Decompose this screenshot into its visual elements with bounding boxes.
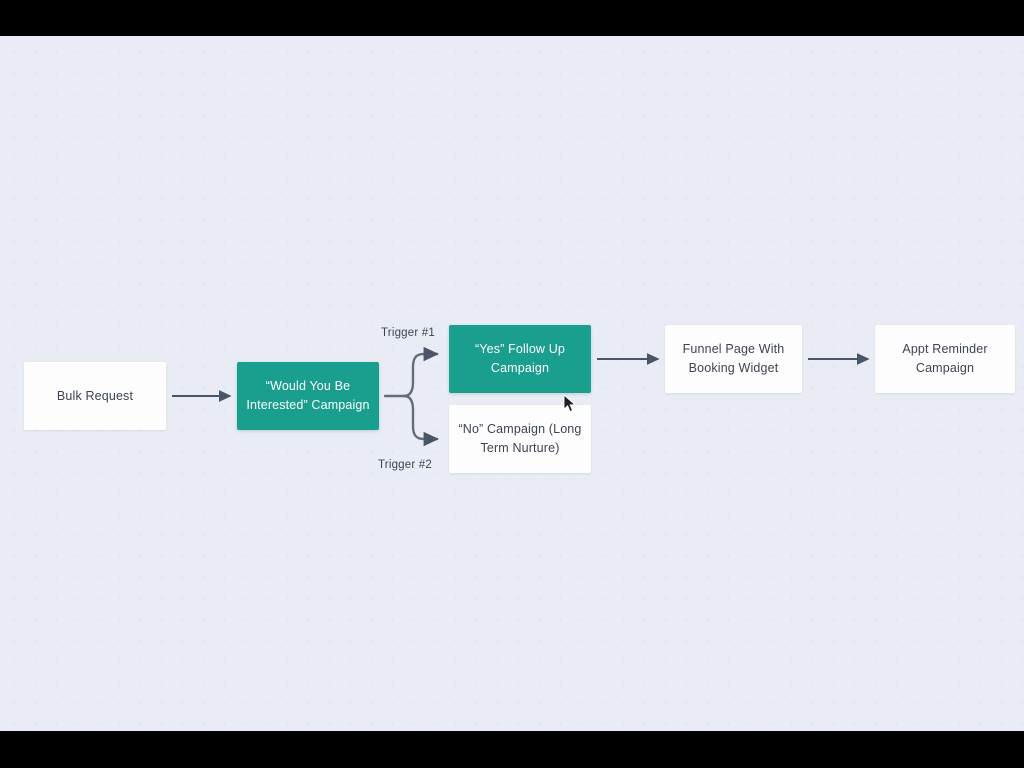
node-label: Bulk Request	[57, 387, 133, 406]
letterbox-top	[0, 0, 1024, 36]
edge-label-trigger-1: Trigger #1	[381, 327, 435, 339]
node-no-campaign[interactable]: “No” Campaign (Long Term Nurture)	[449, 405, 591, 473]
node-label: Appt Reminder Campaign	[883, 340, 1007, 378]
node-appt-reminder[interactable]: Appt Reminder Campaign	[875, 325, 1015, 393]
edge-label-trigger-2: Trigger #2	[378, 459, 432, 471]
node-yes-follow-up[interactable]: “Yes” Follow Up Campaign	[449, 325, 591, 393]
node-funnel-page[interactable]: Funnel Page With Booking Widget	[665, 325, 802, 393]
screen-root: Bulk Request “Would You Be Interested” C…	[0, 0, 1024, 768]
node-label: “Would You Be Interested” Campaign	[245, 377, 371, 415]
node-label: “No” Campaign (Long Term Nurture)	[457, 420, 583, 458]
letterbox-bottom	[0, 731, 1024, 768]
diagram-canvas[interactable]: Bulk Request “Would You Be Interested” C…	[0, 36, 1024, 731]
node-bulk-request[interactable]: Bulk Request	[24, 362, 166, 430]
node-would-you-be-interested[interactable]: “Would You Be Interested” Campaign	[237, 362, 379, 430]
edge-fork-up-to-yes	[404, 354, 437, 396]
edge-fork-down-to-no	[404, 396, 437, 439]
node-label: “Yes” Follow Up Campaign	[457, 340, 583, 378]
node-label: Funnel Page With Booking Widget	[673, 340, 794, 378]
